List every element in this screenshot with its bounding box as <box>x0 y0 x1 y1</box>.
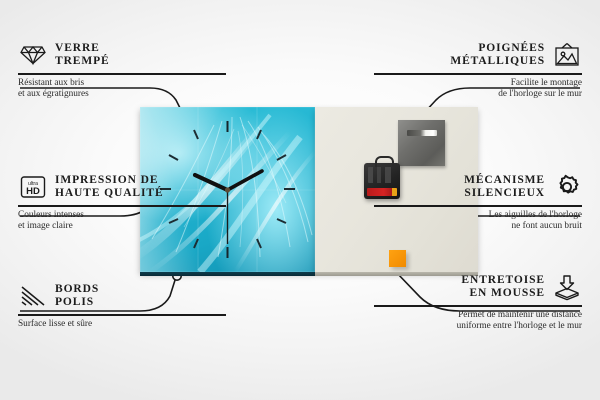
mechanism-hanging-loop <box>375 156 394 167</box>
feature-title-line1: ENTRETOISE <box>461 274 545 286</box>
feature-desc-line1: Permet de maintenir une distance <box>458 310 582 320</box>
feature-divider <box>18 205 226 207</box>
feature-desc-line1: Les aiguilles de l'horloge <box>489 210 582 220</box>
metal-hanger-plate <box>398 120 445 166</box>
feature-desc-line2: uniforme entre l'horloge et le mur <box>457 321 582 331</box>
feature-title-line2: HAUTE QUALITÉ <box>55 187 164 199</box>
feature-title-line2: EN MOUSSE <box>469 287 545 299</box>
feature-desc-line1: Surface lisse et sûre <box>18 319 92 329</box>
feature-desc-line1: Couleurs intenses <box>18 210 84 220</box>
feature-desc-line2: ne font aucun bruit <box>512 221 582 231</box>
feature-description: Couleurs intenses et image claire <box>18 210 226 233</box>
ultra-hd-large-text: HD <box>26 186 40 197</box>
feature-entretoise-en-mousse: ENTRETOISE EN MOUSSE Permet de maintenir… <box>374 272 582 333</box>
ultra-hd-badge-icon: ultra HD <box>18 172 48 202</box>
feature-title: VERRE TREMPÉ <box>55 42 110 68</box>
feature-title-line2: SILENCIEUX <box>464 187 545 199</box>
feature-divider <box>18 314 226 316</box>
polished-edge-icon <box>18 281 48 311</box>
feature-desc-line2: et aux égratignures <box>18 89 89 99</box>
feature-title: IMPRESSION DE HAUTE QUALITÉ <box>55 174 164 200</box>
feature-desc-line1: Résistant aux bris <box>18 78 84 88</box>
feature-title-line2: MÉTALLIQUES <box>450 55 545 67</box>
feature-title-line1: VERRE <box>55 42 100 54</box>
infographic-canvas: VERRE TREMPÉ Résistant aux bris et aux é… <box>0 0 600 400</box>
feature-title: POIGNÉES MÉTALLIQUES <box>450 42 545 68</box>
feature-title: ENTRETOISE EN MOUSSE <box>461 274 545 300</box>
feature-desc-line1: Facilite le montage <box>511 78 582 88</box>
feature-divider <box>18 73 226 75</box>
feature-bords-polis: BORDS POLIS Surface lisse et sûre <box>18 281 226 330</box>
foam-spacer-icon <box>552 272 582 302</box>
feature-description: Surface lisse et sûre <box>18 319 226 331</box>
feature-desc-line2: et image claire <box>18 221 73 231</box>
diamond-icon <box>18 40 48 70</box>
feature-description: Résistant aux bris et aux égratignures <box>18 78 226 101</box>
feature-title-line1: IMPRESSION DE <box>55 174 158 186</box>
feature-title-line2: TREMPÉ <box>55 55 110 67</box>
feature-title-line1: POIGNÉES <box>478 42 545 54</box>
feature-divider <box>374 73 582 75</box>
feature-title-line1: BORDS <box>55 283 99 295</box>
gear-icon <box>552 172 582 202</box>
foam-spacer-pad <box>389 250 406 267</box>
feature-title: MÉCANISME SILENCIEUX <box>464 174 545 200</box>
feature-title-line2: POLIS <box>55 296 94 308</box>
feature-divider <box>374 205 582 207</box>
feature-description: Facilite le montage de l'horloge sur le … <box>374 78 582 101</box>
feature-description: Permet de maintenir une distance uniform… <box>374 310 582 333</box>
feature-impression-haute-qualite: ultra HD IMPRESSION DE HAUTE QUALITÉ Cou… <box>18 172 226 233</box>
feature-title-line1: MÉCANISME <box>464 174 545 186</box>
hanger-keyhole-slot <box>407 130 437 136</box>
feature-mecanisme-silencieux: MÉCANISME SILENCIEUX Les aiguilles de l'… <box>374 172 582 233</box>
minute-hand <box>228 171 263 190</box>
feature-divider <box>374 305 582 307</box>
feature-description: Les aiguilles de l'horloge ne font aucun… <box>374 210 582 233</box>
feature-title: BORDS POLIS <box>55 283 99 309</box>
hanging-frame-icon <box>552 40 582 70</box>
feature-poignees-metalliques: POIGNÉES MÉTALLIQUES Facilite le montage… <box>374 40 582 101</box>
feature-verre-trempe: VERRE TREMPÉ Résistant aux bris et aux é… <box>18 40 226 101</box>
feature-desc-line2: de l'horloge sur le mur <box>498 89 582 99</box>
